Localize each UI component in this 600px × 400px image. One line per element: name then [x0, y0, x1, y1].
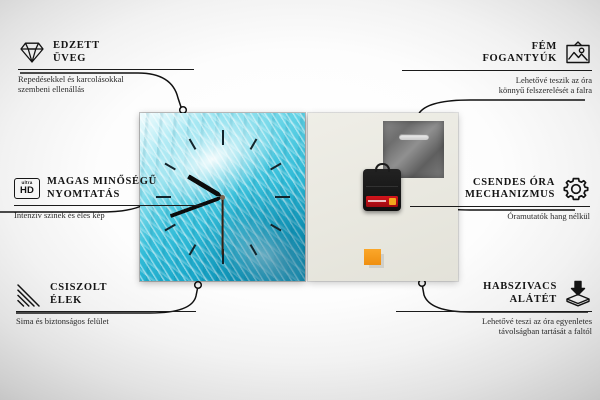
feature-tempered-glass: EDZETT ÜVEG Repedésekkel és karcolásokka… — [18, 40, 194, 95]
feature-title-line2: ALÁTÉT — [483, 294, 557, 307]
feature-title-line1: CSENDES ÓRA — [465, 177, 555, 190]
feature-title-line1: MAGAS MINŐSÉGŰ — [47, 176, 157, 189]
feature-divider — [410, 206, 590, 207]
picture-frame-hanger-icon — [564, 40, 592, 66]
feature-divider — [402, 70, 592, 71]
feature-description: Óramutatók hang nélkül — [410, 211, 590, 222]
hanger-slot — [399, 134, 429, 140]
feature-title-line1: FÉM — [482, 41, 557, 54]
feature-title: MAGAS MINŐSÉGŰ NYOMTATÁS — [47, 176, 157, 201]
feature-foam-pad: HABSZIVACS ALÁTÉT Lehetővé teszi az óra … — [396, 280, 592, 337]
foam-pad — [364, 249, 381, 265]
diamond-icon — [18, 40, 46, 65]
infographic-stage: EDZETT ÜVEG Repedésekkel és karcolásokka… — [0, 0, 600, 400]
mechanism-hanging-loop — [375, 163, 390, 172]
feature-description: Lehetővé teszi az óra egyenletes távolsá… — [396, 316, 592, 337]
feature-title: EDZETT ÜVEG — [53, 40, 100, 65]
ultra-hd-icon: ultra HD — [14, 178, 40, 199]
gear-icon — [562, 176, 590, 202]
feature-divider — [16, 311, 196, 312]
feature-title: CSENDES ÓRA MECHANIZMUS — [465, 177, 555, 202]
feature-title-line2: ÉLEK — [50, 295, 107, 308]
feature-description: Sima és biztonságos felület — [16, 316, 196, 327]
feature-title-line1: CSISZOLT — [50, 282, 107, 295]
feature-divider — [18, 69, 194, 70]
feature-description: Lehetővé teszik az óra könnyű felszerelé… — [402, 75, 592, 96]
feature-metal-handles: FÉM FOGANTYÚK Lehetővé teszik az óra kön… — [402, 40, 592, 96]
feature-title-line2: FOGANTYÚK — [482, 53, 557, 66]
hatched-edge-icon — [16, 283, 43, 307]
feature-silent-mechanism: CSENDES ÓRA MECHANIZMUS Óramutatók hang … — [410, 176, 590, 221]
feature-title: FÉM FOGANTYÚK — [482, 41, 557, 66]
clock-mechanism — [363, 169, 401, 211]
ultra-hd-icon-main-text: HD — [20, 186, 34, 196]
feature-divider — [396, 311, 592, 312]
feature-high-quality-print: ultra HD MAGAS MINŐSÉGŰ NYOMTATÁS Intenz… — [14, 176, 204, 220]
feature-description: Repedésekkel és karcolásokkal szembeni e… — [18, 74, 194, 95]
press-down-pad-icon — [564, 280, 592, 307]
feature-title-line2: ÜVEG — [53, 53, 100, 66]
feature-title-line2: MECHANIZMUS — [465, 189, 555, 202]
battery-plus-terminal — [389, 198, 396, 205]
feature-title: CSISZOLT ÉLEK — [50, 282, 107, 307]
feature-title: HABSZIVACS ALÁTÉT — [483, 281, 557, 306]
feature-title-line1: HABSZIVACS — [483, 281, 557, 294]
clock-second-hand — [222, 197, 224, 255]
battery-stripe — [368, 200, 386, 202]
mechanism-seam — [366, 186, 398, 187]
clock-center-cap — [220, 195, 225, 200]
mechanism-battery — [366, 196, 398, 207]
feature-polished-edges: CSISZOLT ÉLEK Sima és biztonságos felüle… — [16, 282, 196, 326]
feature-description: Intenzív színek és éles kép — [14, 210, 204, 221]
feature-title-line1: EDZETT — [53, 40, 100, 53]
feature-divider — [14, 205, 204, 206]
feature-title-line2: NYOMTATÁS — [47, 189, 157, 202]
